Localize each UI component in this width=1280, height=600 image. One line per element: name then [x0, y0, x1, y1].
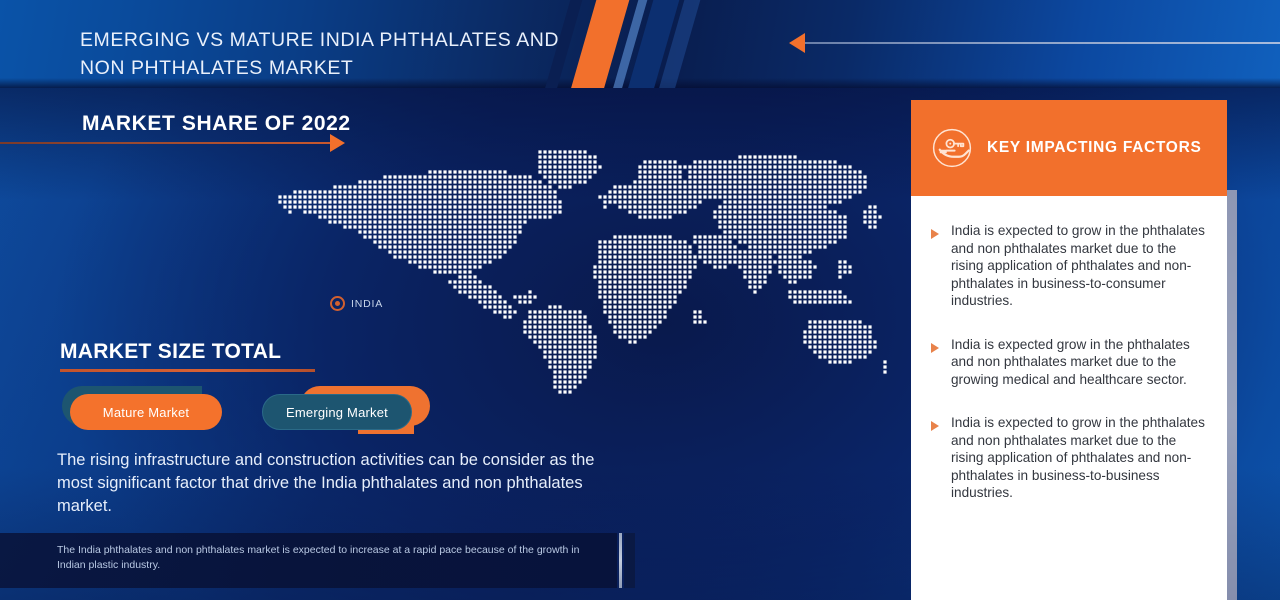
world-map: [268, 145, 888, 400]
market-share-title: MARKET SHARE OF 2022: [82, 112, 351, 136]
header-rule-line: [805, 42, 1280, 44]
footer-accent-strip: [624, 533, 635, 588]
key-factor-text: India is expected to grow in the phthala…: [951, 222, 1205, 310]
key-impacting-factors-panel: KEY IMPACTING FACTORS India is expected …: [911, 100, 1227, 600]
india-map-marker[interactable]: INDIA: [330, 296, 383, 311]
legend-item-mature-market[interactable]: Mature Market: [62, 386, 262, 438]
india-marker-label: INDIA: [351, 298, 383, 310]
key-factor-item: India is expected grow in the phthalates…: [931, 336, 1205, 389]
page-title: EMERGING VS MATURE INDIA PHTHALATES AND …: [80, 26, 600, 82]
key-factor-text: India is expected to grow in the phthala…: [951, 414, 1205, 502]
market-size-title: MARKET SIZE TOTAL: [60, 340, 281, 364]
key-factors-header: KEY IMPACTING FACTORS: [911, 100, 1227, 196]
mature-market-pill[interactable]: Mature Market: [70, 394, 222, 430]
triangle-right-icon: [931, 229, 939, 239]
key-factor-text: India is expected grow in the phthalates…: [951, 336, 1205, 389]
infographic-canvas: EMERGING VS MATURE INDIA PHTHALATES AND …: [0, 0, 1280, 600]
triangle-right-icon: [931, 343, 939, 353]
market-size-rule: [60, 369, 315, 372]
legend-item-emerging-market[interactable]: Emerging Market: [262, 386, 462, 438]
header-arrow-left-icon: [789, 33, 805, 53]
hand-holding-key-icon: [931, 127, 973, 169]
market-size-paragraph: The rising infrastructure and constructi…: [57, 449, 605, 518]
market-share-arrow-right-icon: [330, 134, 345, 152]
footer-accent-tick: [619, 533, 622, 588]
key-factor-item: India is expected to grow in the phthala…: [931, 222, 1205, 310]
emerging-market-pill[interactable]: Emerging Market: [262, 394, 412, 430]
triangle-right-icon: [931, 421, 939, 431]
key-factors-shadow-bar: [1227, 190, 1237, 600]
market-share-rule: [0, 142, 330, 144]
key-factors-title: KEY IMPACTING FACTORS: [987, 139, 1202, 157]
footer-note: The India phthalates and non phthalates …: [57, 543, 597, 573]
key-factor-item: India is expected to grow in the phthala…: [931, 414, 1205, 502]
key-factors-list: India is expected to grow in the phthala…: [911, 196, 1227, 528]
location-target-icon: [330, 296, 345, 311]
